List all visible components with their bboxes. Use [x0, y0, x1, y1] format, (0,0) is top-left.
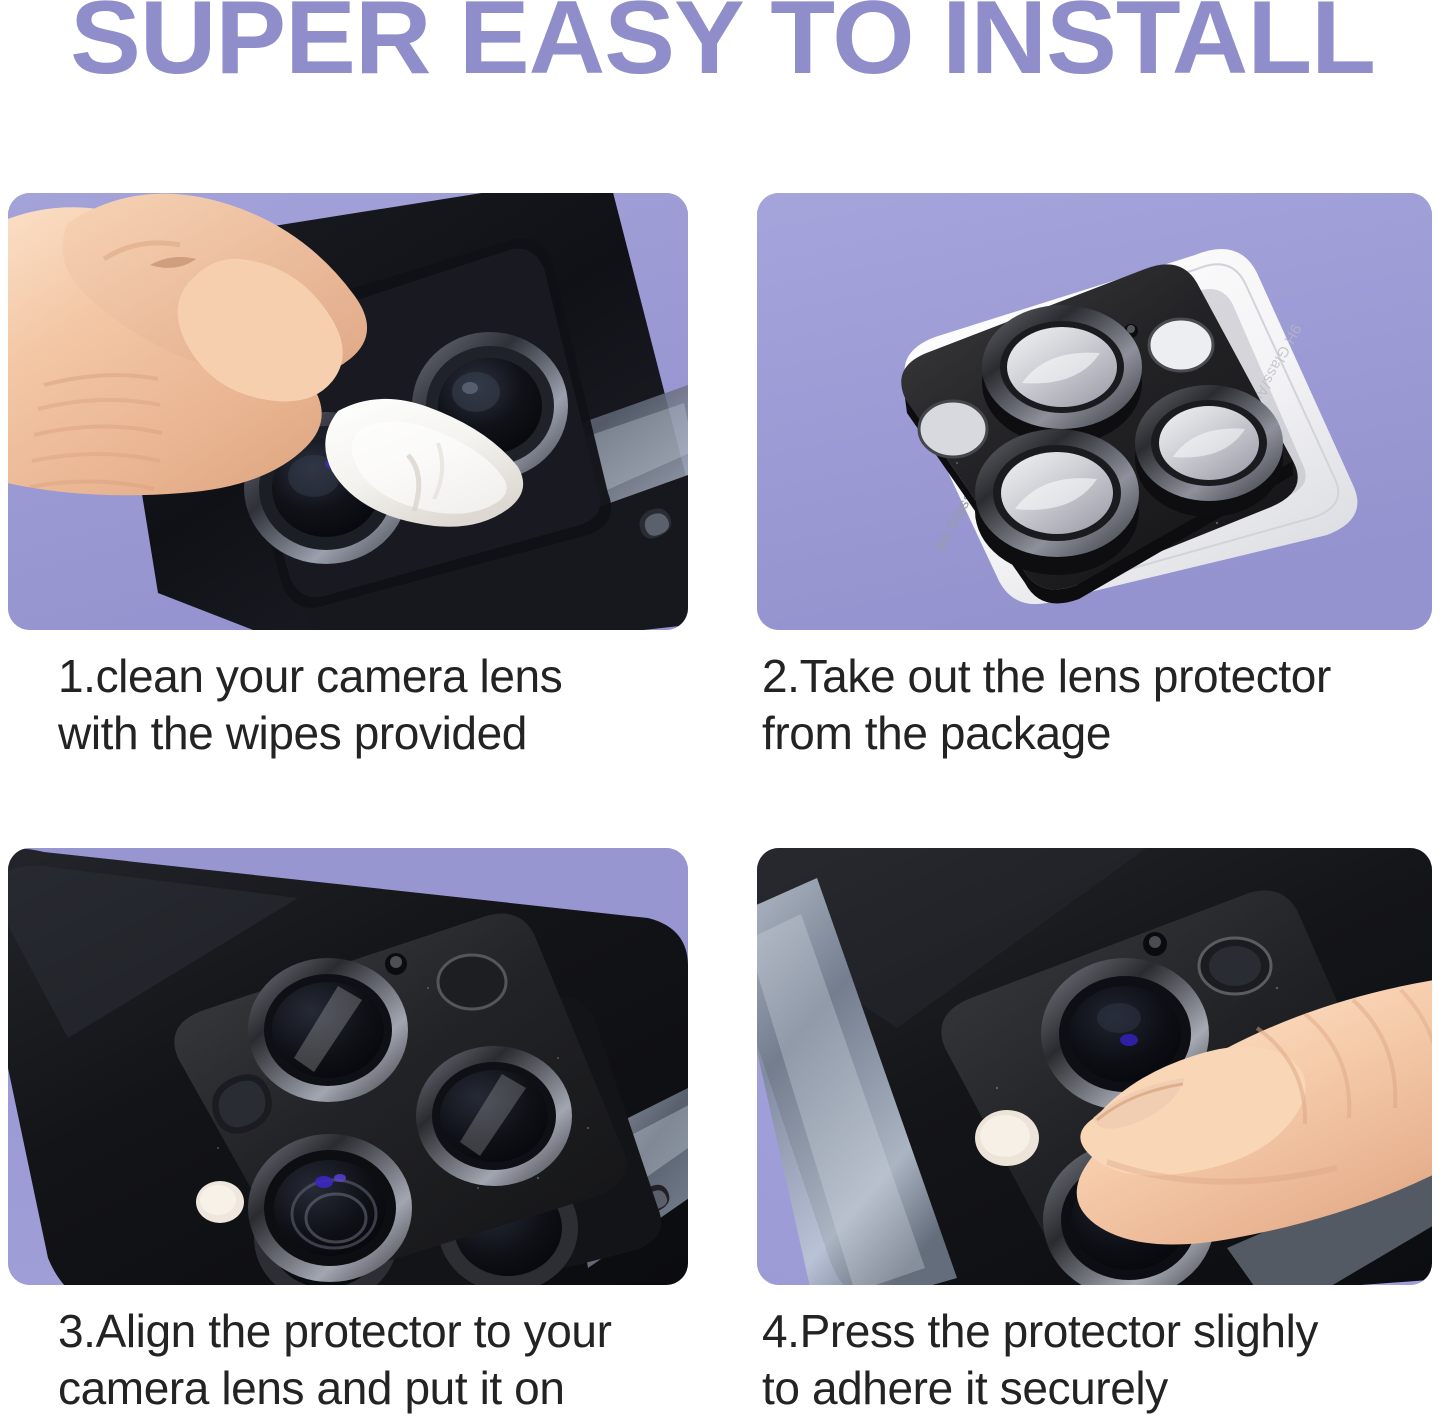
step-3-caption: 3.Align the protector to your camera len… [58, 1303, 738, 1417]
step-2-caption: 2.Take out the lens protector from the p… [762, 648, 1442, 762]
step-2-caption-line2: from the package [762, 705, 1442, 762]
step-1-caption: 1.clean your camera lens with the wipes … [58, 648, 718, 762]
step-4-caption-line1: 4.Press the protector slighly [762, 1303, 1442, 1360]
step-2-image: 9H Glass/Aviation aluminum 9H Glass/Avia… [757, 193, 1432, 630]
step-3-caption-line2: camera lens and put it on [58, 1360, 738, 1417]
page-title: SUPER EASY TO INSTALL [0, 0, 1445, 90]
step-4-image [757, 848, 1432, 1285]
step-4-caption: 4.Press the protector slighly to adhere … [762, 1303, 1442, 1417]
step-1-caption-line2: with the wipes provided [58, 705, 718, 762]
step-4-caption-line2: to adhere it securely [762, 1360, 1442, 1417]
step-2-caption-line1: 2.Take out the lens protector [762, 648, 1442, 705]
step-3-image [8, 848, 688, 1285]
step-1-image [8, 193, 688, 630]
instruction-sheet: SUPER EASY TO INSTALL [0, 0, 1445, 1420]
step-3-caption-line1: 3.Align the protector to your [58, 1303, 738, 1360]
step-1-caption-line1: 1.clean your camera lens [58, 648, 718, 705]
